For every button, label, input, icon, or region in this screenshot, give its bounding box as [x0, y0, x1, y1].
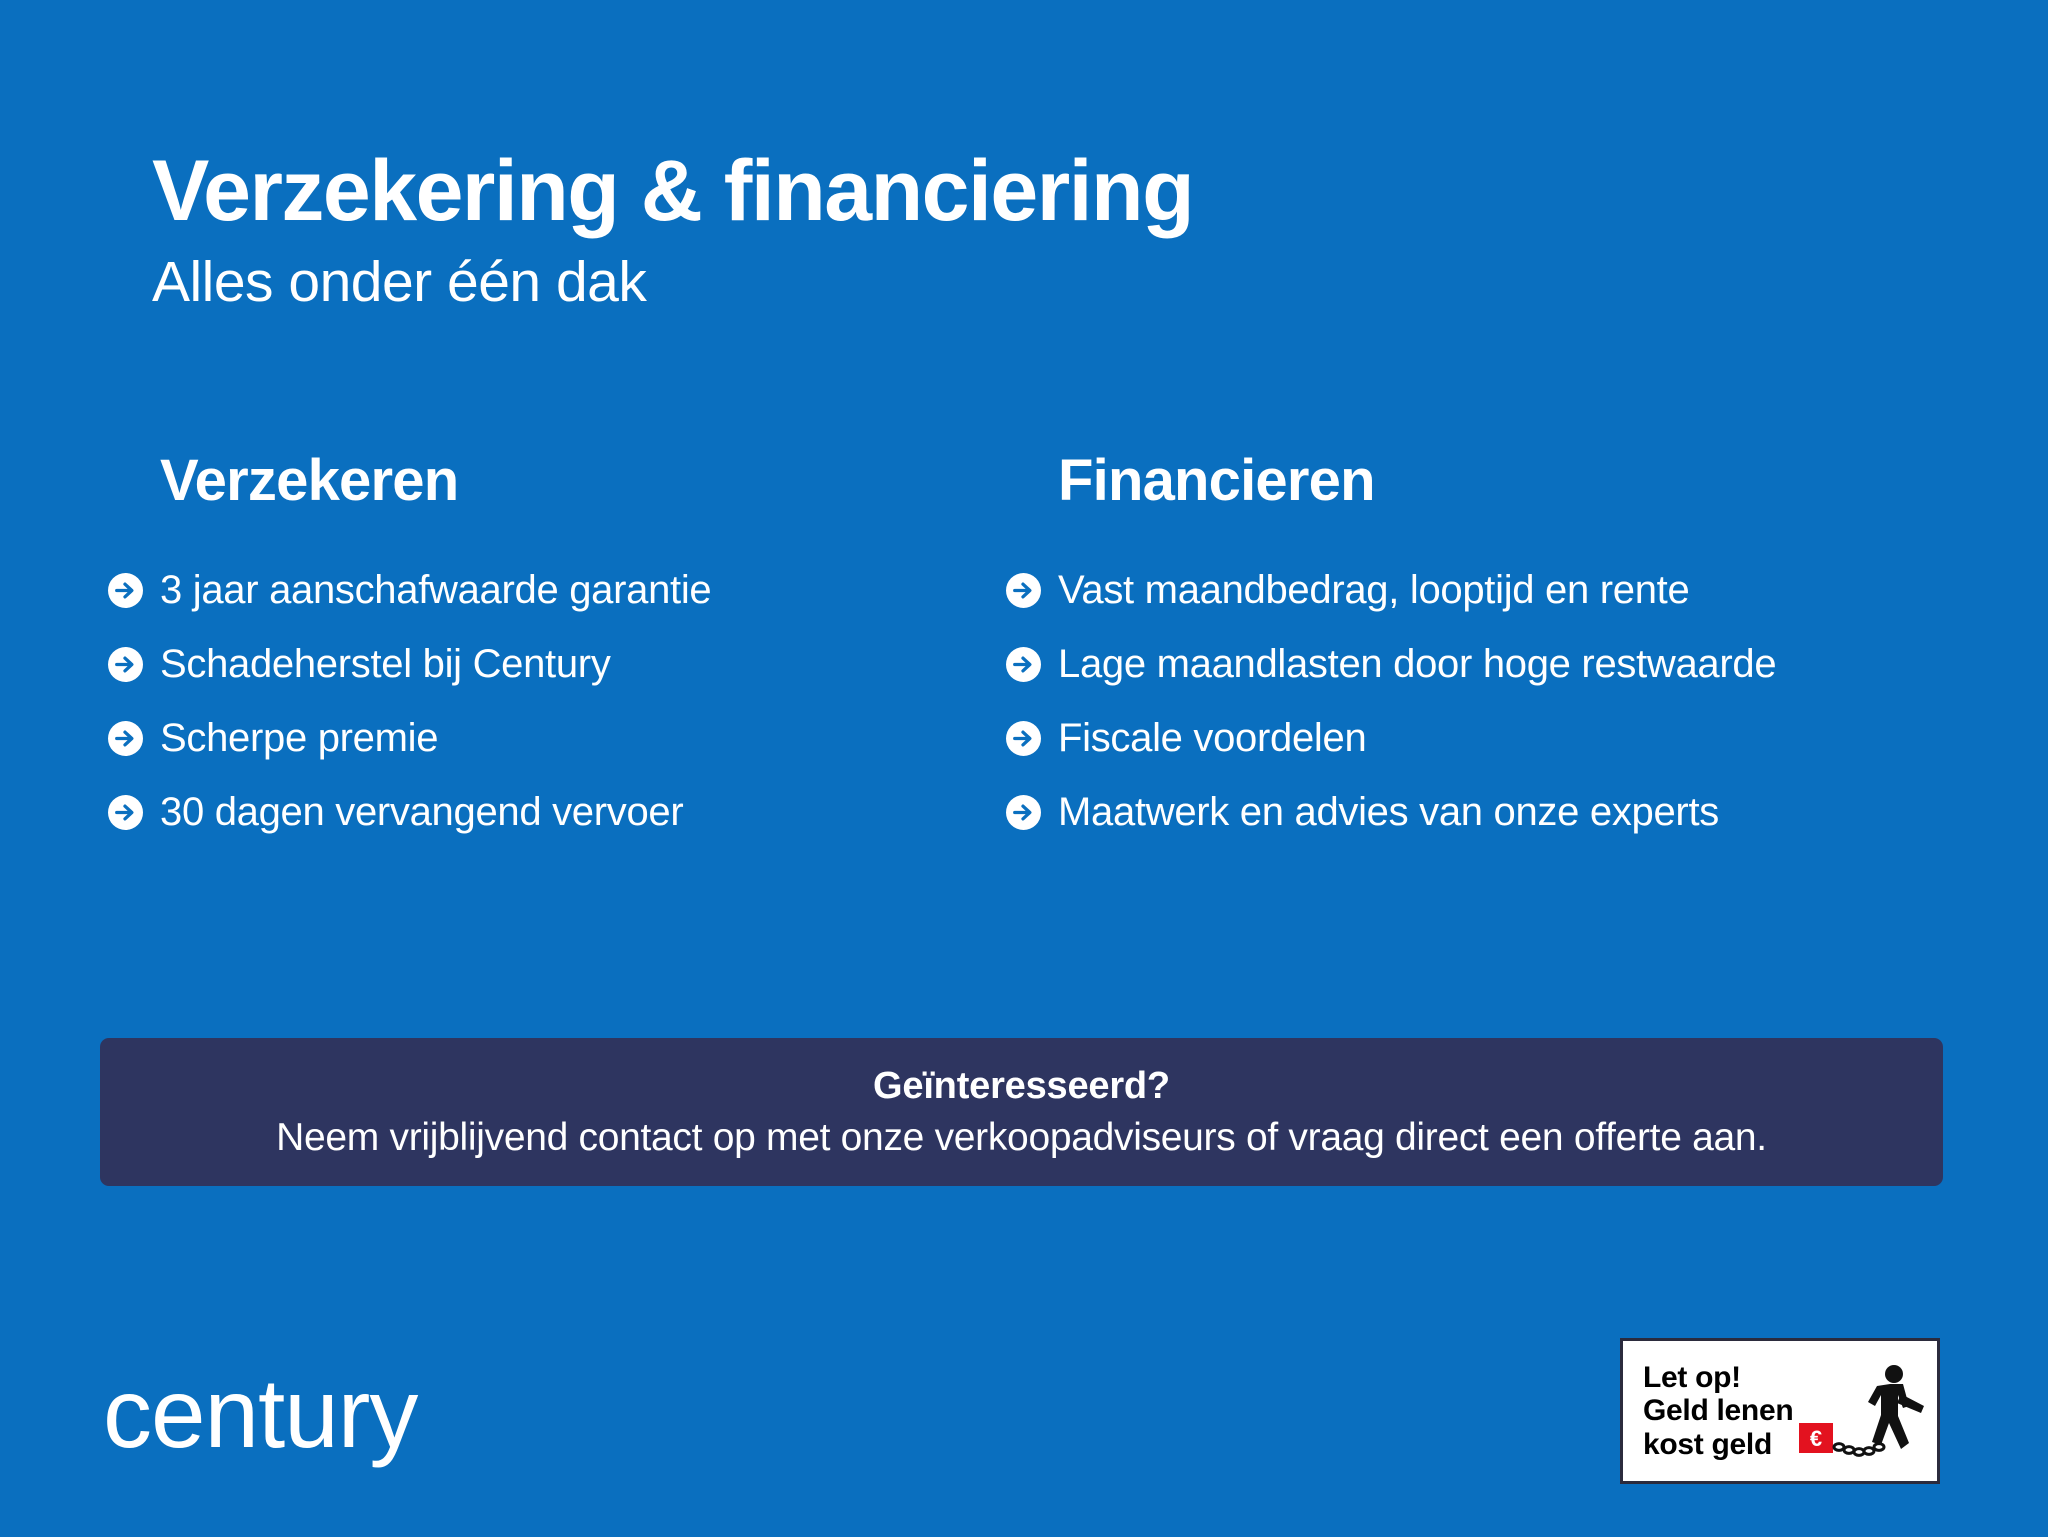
column-heading: Verzekeren [160, 452, 980, 510]
arrow-right-circle-icon [108, 647, 143, 682]
feature-columns: Verzekeren 3 jaar aanschafwaarde garanti… [0, 452, 2048, 872]
cta-banner[interactable]: Geïnteresseerd? Neem vrijblijvend contac… [100, 1038, 1943, 1186]
arrow-right-circle-icon [108, 795, 143, 830]
debt-walker-euro-ball-icon: € [1797, 1361, 1929, 1471]
column-financieren: Financieren Vast maandbedrag, looptijd e… [1058, 452, 2008, 849]
header: Verzekering & financiering Alles onder é… [152, 148, 1852, 311]
list-item-label: Schadeherstel bij Century [160, 644, 611, 684]
credit-warning-box: Let op! Geld lenen kost geld € [1620, 1338, 1940, 1484]
arrow-right-circle-icon [1006, 795, 1041, 830]
list-item-label: 3 jaar aanschafwaarde garantie [160, 570, 711, 610]
list-item: 30 dagen vervangend vervoer [108, 775, 980, 849]
list-item-label: 30 dagen vervangend vervoer [160, 792, 683, 832]
list-item: Lage maandlasten door hoge restwaarde [1006, 627, 2008, 701]
list-item: 3 jaar aanschafwaarde garantie [108, 553, 980, 627]
arrow-right-circle-icon [1006, 647, 1041, 682]
arrow-right-circle-icon [108, 573, 143, 608]
list-item-label: Lage maandlasten door hoge restwaarde [1058, 644, 1776, 684]
list-item: Maatwerk en advies van onze experts [1006, 775, 2008, 849]
bullet-list-financieren: Vast maandbedrag, looptijd en rente Lage… [1058, 553, 2008, 849]
warning-line-1: Let op! [1643, 1361, 1793, 1395]
page-subtitle: Alles onder één dak [152, 254, 1852, 311]
warning-line-2: Geld lenen [1643, 1394, 1793, 1428]
arrow-right-circle-icon [1006, 721, 1041, 756]
cta-title: Geïnteresseerd? [873, 1067, 1170, 1105]
list-item-label: Vast maandbedrag, looptijd en rente [1058, 570, 1689, 610]
list-item-label: Scherpe premie [160, 718, 438, 758]
list-item: Scherpe premie [108, 701, 980, 775]
slide-root: Verzekering & financiering Alles onder é… [0, 0, 2048, 1537]
list-item: Vast maandbedrag, looptijd en rente [1006, 553, 2008, 627]
page-title: Verzekering & financiering [152, 148, 1852, 234]
cta-body: Neem vrijblijvend contact op met onze ve… [276, 1118, 1767, 1157]
list-item: Schadeherstel bij Century [108, 627, 980, 701]
arrow-right-circle-icon [108, 721, 143, 756]
arrow-right-circle-icon [1006, 573, 1041, 608]
century-logo: century [103, 1348, 417, 1478]
list-item-label: Maatwerk en advies van onze experts [1058, 792, 1719, 832]
list-item: Fiscale voordelen [1006, 701, 2008, 775]
column-heading: Financieren [1058, 452, 2008, 510]
column-verzekeren: Verzekeren 3 jaar aanschafwaarde garanti… [160, 452, 980, 849]
bullet-list-verzekeren: 3 jaar aanschafwaarde garantie Schadeher… [160, 553, 980, 849]
warning-text-block: Let op! Geld lenen kost geld [1643, 1361, 1793, 1462]
svg-text:€: € [1810, 1426, 1822, 1451]
list-item-label: Fiscale voordelen [1058, 718, 1366, 758]
warning-line-3: kost geld [1643, 1428, 1793, 1462]
